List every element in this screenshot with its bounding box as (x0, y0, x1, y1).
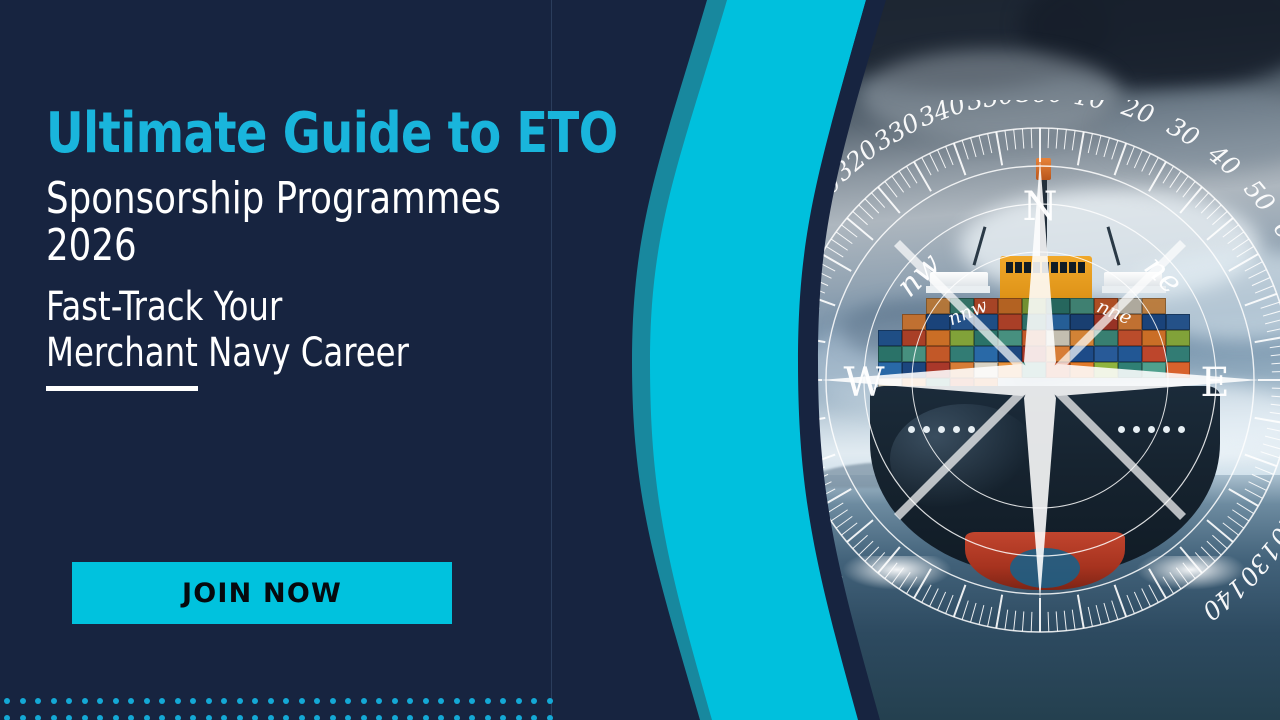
decor-dot (376, 715, 382, 720)
compass-degree-label: 280 (760, 304, 776, 357)
cargo-container (1094, 330, 1118, 346)
decor-dot (407, 715, 413, 720)
decor-dot (531, 698, 537, 704)
cargo-container (1046, 298, 1070, 314)
decor-dot (190, 698, 196, 704)
cargo-container (1118, 314, 1142, 330)
subtitle: Sponsorship Programmes 2026 (46, 176, 604, 269)
decor-dot (469, 715, 475, 720)
decor-dot (97, 698, 103, 704)
decor-dot (221, 698, 227, 704)
cargo-container (1166, 314, 1190, 330)
cargo-container (974, 346, 998, 362)
decor-dot (252, 715, 258, 720)
decor-dot (35, 715, 41, 720)
cargo-container (1022, 314, 1046, 330)
compass-degree-label: 260 (760, 404, 776, 457)
porthole (938, 426, 945, 433)
decor-dot (299, 715, 305, 720)
decor-dot (454, 698, 460, 704)
decor-dot (392, 715, 398, 720)
decor-dot (4, 715, 10, 720)
cargo-container (950, 362, 974, 378)
decor-dot (128, 715, 134, 720)
cargo-container (1094, 314, 1118, 330)
compass-degree-label: 270 (760, 356, 768, 405)
decor-dot (314, 698, 320, 704)
cargo-container (1046, 346, 1070, 362)
cargo-container (1142, 362, 1166, 378)
cargo-container (950, 330, 974, 346)
decor-dot (330, 715, 336, 720)
decor-dot (345, 715, 351, 720)
decor-dot (144, 698, 150, 704)
cargo-container (1070, 298, 1094, 314)
hull-highlight (890, 404, 1040, 514)
container-ship (860, 236, 1240, 636)
decor-dot (531, 715, 537, 720)
decor-dot (66, 715, 72, 720)
decor-dot (547, 698, 553, 704)
decor-dot (35, 698, 41, 704)
cargo-container (974, 298, 998, 314)
decor-dot (144, 715, 150, 720)
decor-dot (82, 715, 88, 720)
decor-dot (283, 715, 289, 720)
cargo-container (1118, 346, 1142, 362)
cargo-container (998, 314, 1022, 330)
porthole (1148, 426, 1155, 433)
decor-dot (407, 698, 413, 704)
decor-dot (82, 698, 88, 704)
promo-banner: 1020304050607080901001101201301402302402… (0, 0, 1280, 720)
decor-dot (423, 715, 429, 720)
decor-dot (361, 715, 367, 720)
decor-dot (345, 698, 351, 704)
bridge-windows (1006, 262, 1086, 273)
decor-dot (51, 715, 57, 720)
decor-dot (392, 698, 398, 704)
porthole (923, 426, 930, 433)
join-now-button[interactable]: JOIN NOW (72, 562, 452, 624)
tagline: Fast-Track Your Merchant Navy Career (46, 285, 604, 376)
decor-dot (500, 715, 506, 720)
decor-dot (516, 698, 522, 704)
decor-dot (175, 715, 181, 720)
cargo-container (926, 362, 950, 378)
cargo-container (1094, 362, 1118, 378)
decor-dot (252, 698, 258, 704)
cargo-container (878, 330, 902, 346)
cargo-container (950, 298, 974, 314)
decor-dot (516, 715, 522, 720)
porthole (1178, 426, 1185, 433)
decor-dot (206, 698, 212, 704)
dot-grid-decoration (0, 692, 560, 720)
decor-dot (376, 698, 382, 704)
decor-dot (66, 698, 72, 704)
porthole (1163, 426, 1170, 433)
compass-degree-label: 250 (760, 451, 793, 507)
cargo-container (926, 330, 950, 346)
decor-dot (159, 698, 165, 704)
cargo-container (926, 314, 950, 330)
decor-dot (423, 698, 429, 704)
decor-dot (283, 698, 289, 704)
decor-dot (485, 715, 491, 720)
decor-dot (361, 698, 367, 704)
decor-dot (299, 698, 305, 704)
decor-dot (20, 698, 26, 704)
cargo-container (1142, 314, 1166, 330)
bow-wake-left (842, 556, 952, 590)
cargo-container (878, 346, 902, 362)
cargo-container (1166, 346, 1190, 362)
cargo-container (1046, 362, 1070, 378)
decor-dot (237, 715, 243, 720)
cargo-container (950, 314, 974, 330)
decor-dot (128, 698, 134, 704)
tagline-line-2: Merchant Navy Career (46, 331, 604, 377)
cargo-container (926, 298, 950, 314)
join-now-label: JOIN NOW (182, 578, 342, 609)
cargo-container (1094, 298, 1118, 314)
decor-dot (97, 715, 103, 720)
cargo-container (1022, 362, 1046, 378)
decor-dot (113, 698, 119, 704)
cargo-container (1094, 346, 1118, 362)
decor-dot (268, 698, 274, 704)
container-stack (878, 314, 1212, 394)
cargo-container (878, 362, 902, 378)
cargo-container (974, 314, 998, 330)
page-title: Ultimate Guide to ETO (46, 106, 616, 162)
cargo-container (1070, 330, 1094, 346)
decor-dot (51, 698, 57, 704)
decor-dot (454, 715, 460, 720)
decor-dot (330, 698, 336, 704)
decor-dot (159, 715, 165, 720)
decor-dot (438, 715, 444, 720)
decor-dot (206, 715, 212, 720)
cargo-container (1022, 346, 1046, 362)
cargo-container (1142, 298, 1166, 314)
underline-rule (46, 386, 198, 391)
cargo-container (926, 346, 950, 362)
cargo-container (1118, 298, 1142, 314)
porthole-row-left (908, 426, 975, 433)
cargo-container (974, 330, 998, 346)
porthole (1118, 426, 1125, 433)
ship-mast (1040, 172, 1047, 258)
cargo-container (902, 314, 926, 330)
cargo-container (1166, 362, 1190, 378)
decor-dot (268, 715, 274, 720)
cargo-container (998, 298, 1022, 314)
porthole (908, 426, 915, 433)
cargo-container (1046, 330, 1070, 346)
decor-dot (314, 715, 320, 720)
decor-dot (485, 698, 491, 704)
cargo-container (1118, 330, 1142, 346)
decor-dot (547, 715, 553, 720)
decor-dot (113, 715, 119, 720)
subtitle-line-2: 2026 (46, 223, 604, 270)
cargo-container (1070, 362, 1094, 378)
decor-dot (175, 698, 181, 704)
cargo-container (902, 330, 926, 346)
cargo-container (1022, 330, 1046, 346)
cargo-container (974, 362, 998, 378)
decor-dot (237, 698, 243, 704)
cargo-container (998, 330, 1022, 346)
cargo-container (1022, 298, 1046, 314)
decor-dot (20, 715, 26, 720)
cargo-container (902, 362, 926, 378)
cargo-container (1070, 346, 1094, 362)
porthole (953, 426, 960, 433)
cloud-shape (860, 50, 1120, 140)
porthole (968, 426, 975, 433)
cargo-container (950, 346, 974, 362)
cargo-container (1142, 330, 1166, 346)
cargo-container (1046, 314, 1070, 330)
bridge-wing-right (1102, 286, 1166, 293)
decor-dot (221, 715, 227, 720)
text-column: Ultimate Guide to ETO Sponsorship Progra… (46, 106, 666, 391)
decor-dot (190, 715, 196, 720)
bulbous-bow (1010, 548, 1080, 588)
cargo-container (902, 346, 926, 362)
decor-dot (469, 698, 475, 704)
porthole (1133, 426, 1140, 433)
cargo-container (1118, 362, 1142, 378)
cargo-container (1166, 330, 1190, 346)
cargo-container (1070, 314, 1094, 330)
subtitle-line-1: Sponsorship Programmes (46, 176, 604, 223)
bow-wake-right (1136, 556, 1246, 590)
decor-dot (438, 698, 444, 704)
cargo-container (998, 362, 1022, 378)
compass-degree-label: 290 (760, 255, 793, 311)
decor-dot (500, 698, 506, 704)
cargo-container (1142, 346, 1166, 362)
cargo-container (998, 346, 1022, 362)
bridge-wing-left (926, 286, 990, 293)
tagline-line-1: Fast-Track Your (46, 285, 604, 331)
mast-light (1036, 158, 1051, 180)
decor-dot (4, 698, 10, 704)
porthole-row-right (1118, 426, 1185, 433)
